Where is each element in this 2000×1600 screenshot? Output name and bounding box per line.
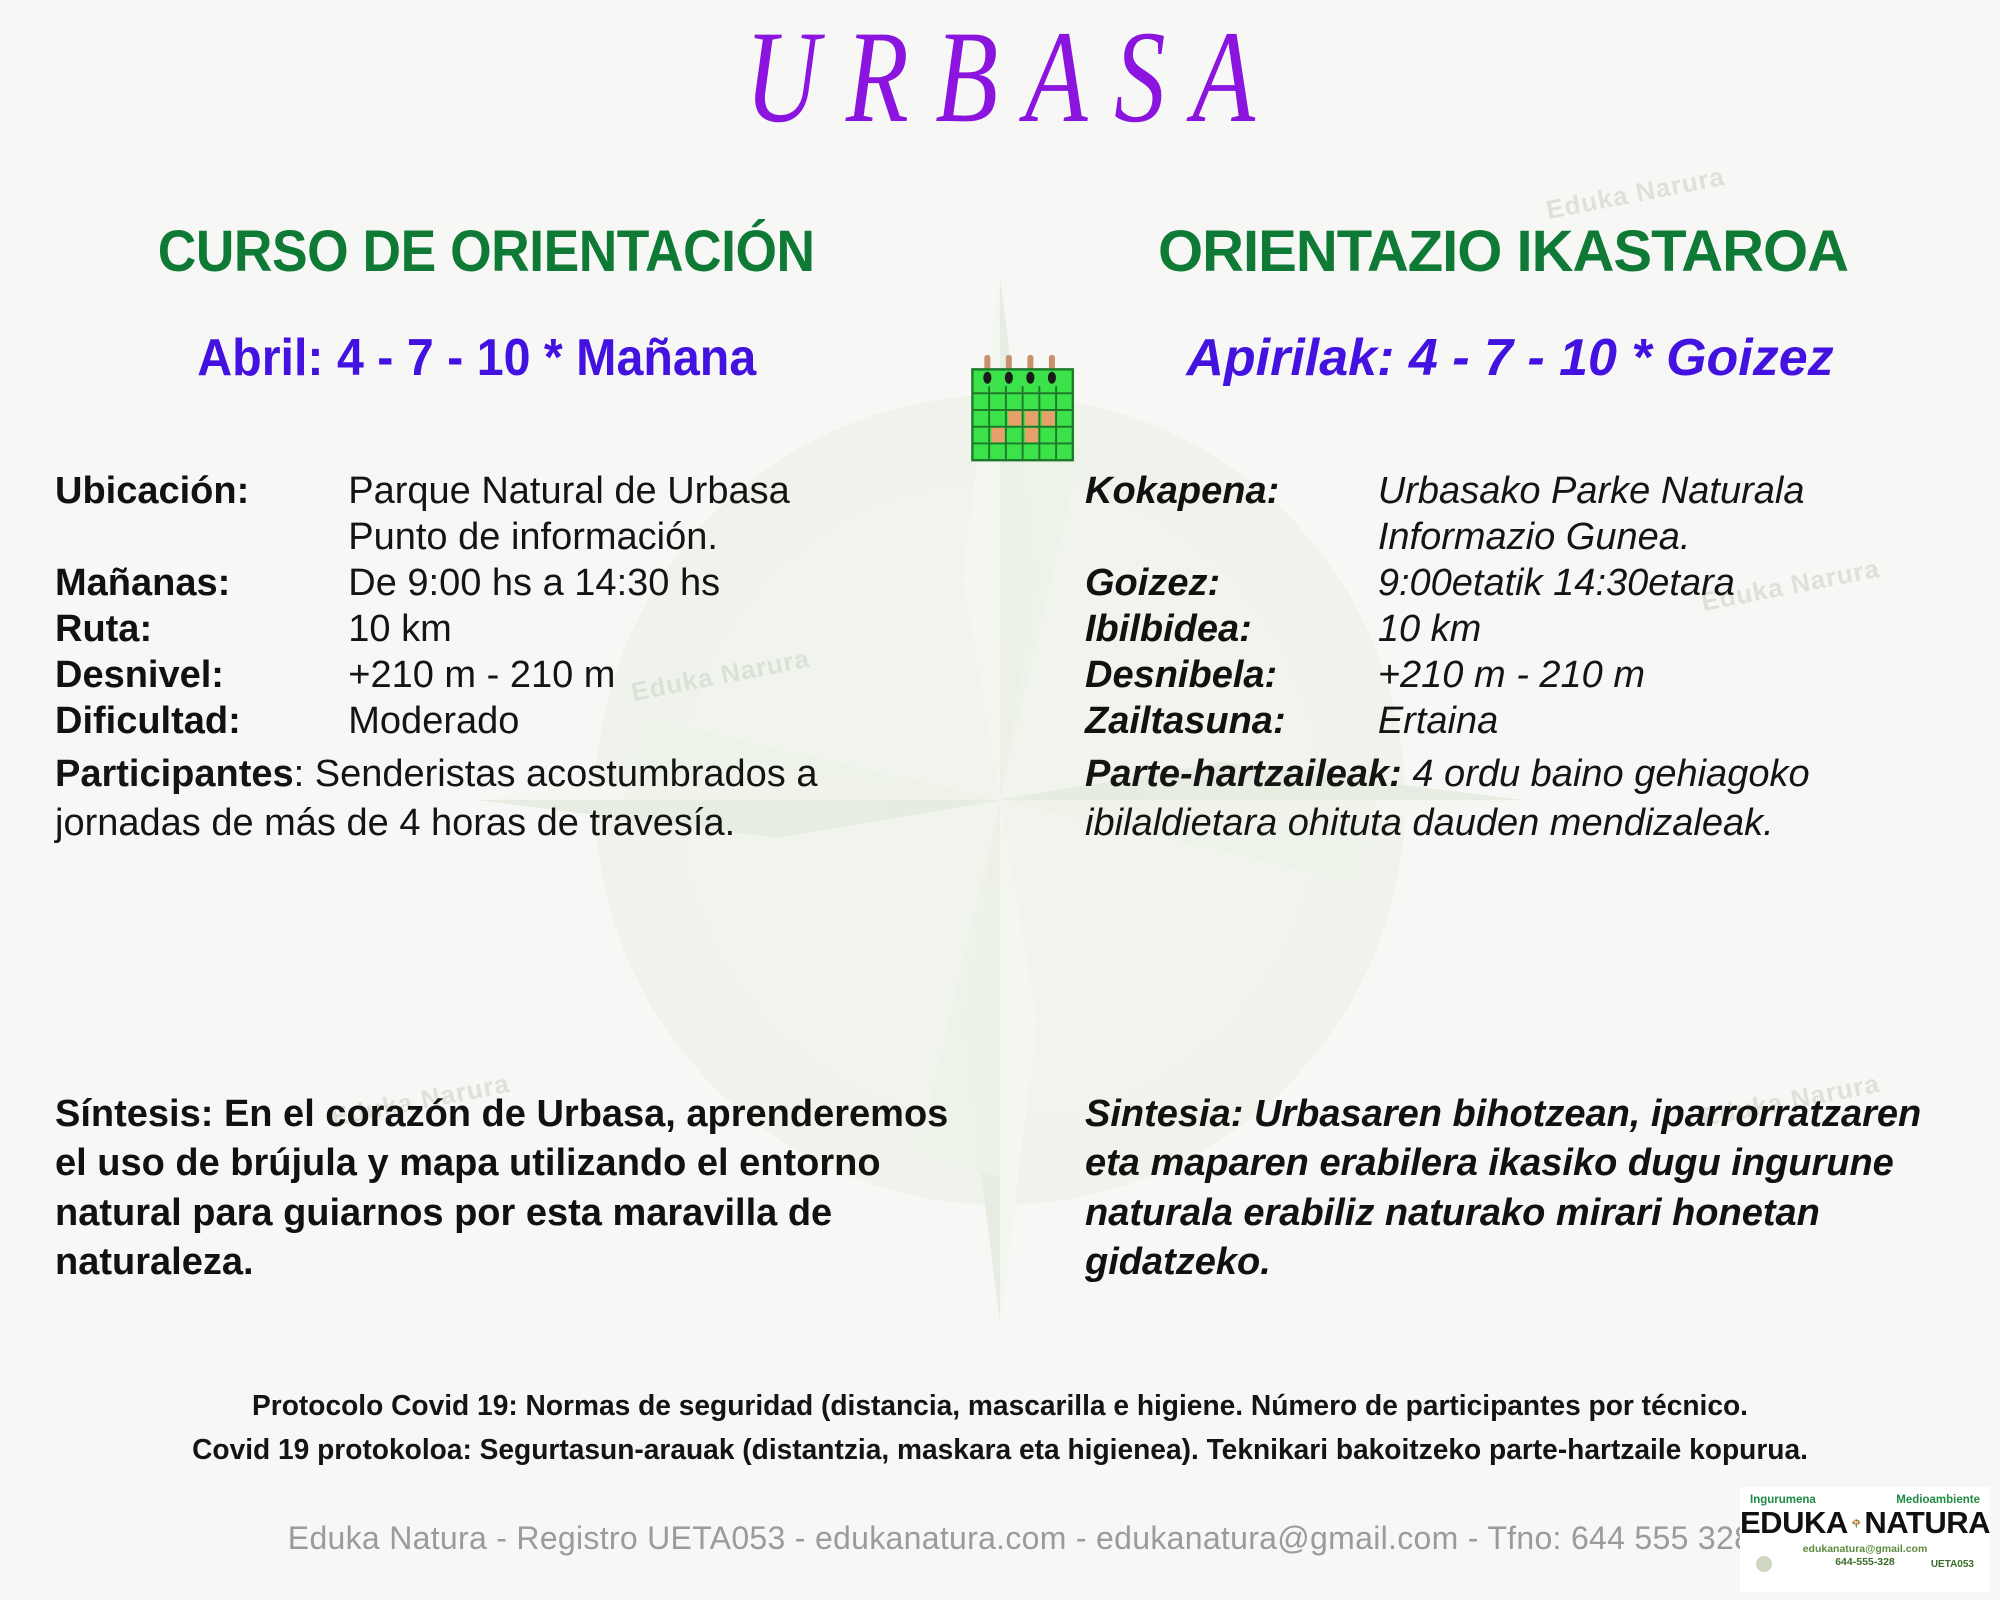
synthesis-col-spanish: Síntesis: En el corazón de Urbasa, apren… — [0, 1090, 1000, 1288]
table-row: Dificultad: Moderado — [55, 700, 970, 746]
row-label: Ubicación: — [55, 470, 348, 516]
heading-basque: ORIENTAZIO IKASTAROA — [1000, 218, 2000, 285]
row-value: Punto de información. — [348, 516, 970, 562]
table-row: Informazio Gunea. — [1085, 516, 1960, 562]
footer-contact-text: Eduka Natura - Registro UETA053 - edukan… — [0, 1520, 2000, 1557]
calendar-icon — [965, 355, 1085, 465]
page-title: URBASA — [220, 8, 1780, 147]
row-label: Kokapena: — [1085, 470, 1378, 516]
logo-badge-icon — [1756, 1556, 1772, 1572]
row-label: Desnibela: — [1085, 654, 1378, 700]
row-value: +210 m - 210 m — [1378, 654, 1960, 700]
heading-spanish: CURSO DE ORIENTACIÓN — [40, 218, 960, 285]
row-label — [55, 516, 348, 562]
table-row: Goizez: 9:00etatik 14:30etara — [1085, 562, 1960, 608]
row-value: Urbasako Parke Naturala — [1378, 470, 1960, 516]
table-row: Desnivel: +210 m - 210 m — [55, 654, 970, 700]
row-value: De 9:00 hs a 14:30 hs — [348, 562, 970, 608]
table-row: Ubicación: Parque Natural de Urbasa — [55, 470, 970, 516]
date-line-spanish: Abril: 4 - 7 - 10 * Mañana — [35, 328, 965, 388]
synthesis-row: Síntesis: En el corazón de Urbasa, apren… — [0, 1090, 2000, 1288]
participants-basque: Parte-hartzaileak: 4 ordu baino gehiagok… — [1085, 750, 1960, 847]
row-value: 9:00etatik 14:30etara — [1378, 562, 1960, 608]
table-row: Punto de información. — [55, 516, 970, 562]
table-row: Kokapena: Urbasako Parke Naturala — [1085, 470, 1960, 516]
info-columns: Ubicación: Parque Natural de Urbasa Punt… — [0, 470, 2000, 847]
info-column-basque: Kokapena: Urbasako Parke Naturala Inform… — [1000, 470, 2000, 847]
synthesis-basque: Sintesia: Urbasaren bihotzean, iparrorra… — [1000, 1090, 2000, 1288]
poster-canvas: Eduka Narura Eduka Narura Eduka Narura E… — [0, 0, 2000, 1600]
row-label — [1085, 516, 1378, 562]
covid-line-basque: Covid 19 protokoloa: Segurtasun-arauak (… — [30, 1429, 1970, 1473]
date-col-basque: Apirilak: 4 - 7 - 10 * Goizez — [1000, 328, 2000, 388]
row-label: Zailtasuna: — [1085, 700, 1378, 746]
participants-spanish: Participantes: Senderistas acostumbrados… — [55, 750, 970, 847]
headings-row: CURSO DE ORIENTACIÓN ORIENTAZIO IKASTARO… — [0, 218, 2000, 285]
row-value: Ertaina — [1378, 700, 1960, 746]
table-row: Zailtasuna: Ertaina — [1085, 700, 1960, 746]
eduka-natura-logo: Ingurumena Medioambiente EDUKA — [1740, 1487, 1990, 1592]
table-row: Ruta: 10 km — [55, 608, 970, 654]
row-label: Dificultad: — [55, 700, 348, 746]
table-row: Ibilbidea: 10 km — [1085, 608, 1960, 654]
logo-email: edukanatura@gmail.com — [1740, 1543, 1990, 1555]
covid-protocol: Protocolo Covid 19: Normas de seguridad … — [30, 1385, 1970, 1472]
row-label: Ibilbidea: — [1085, 608, 1378, 654]
row-value: Moderado — [348, 700, 970, 746]
logo-word-eduka: EDUKA — [1740, 1505, 1848, 1541]
row-value: Informazio Gunea. — [1378, 516, 1960, 562]
participants-label-basque: Parte-hartzaileak: — [1085, 753, 1402, 795]
participants-label-spanish: Participantes — [55, 753, 294, 795]
synthesis-spanish: Síntesis: En el corazón de Urbasa, apren… — [0, 1090, 1000, 1288]
logo-wordmark: EDUKA — [1740, 1504, 1990, 1542]
row-label: Mañanas: — [55, 562, 348, 608]
covid-line-spanish: Protocolo Covid 19: Normas de seguridad … — [30, 1385, 1970, 1429]
row-label: Goizez: — [1085, 562, 1378, 608]
table-row: Desnibela: +210 m - 210 m — [1085, 654, 1960, 700]
heading-col-spanish: CURSO DE ORIENTACIÓN — [0, 218, 1000, 285]
info-table-spanish: Ubicación: Parque Natural de Urbasa Punt… — [55, 470, 970, 746]
synthesis-col-basque: Sintesia: Urbasaren bihotzean, iparrorra… — [1000, 1090, 2000, 1288]
footer: Eduka Natura - Registro UETA053 - edukan… — [0, 1520, 2000, 1557]
row-value: 10 km — [1378, 608, 1960, 654]
table-row: Mañanas: De 9:00 hs a 14:30 hs — [55, 562, 970, 608]
row-value: Parque Natural de Urbasa — [348, 470, 970, 516]
tree-icon — [1851, 1504, 1862, 1542]
logo-word-natura: NATURA — [1864, 1505, 1990, 1541]
row-value: 10 km — [348, 608, 970, 654]
logo-registry: UETA053 — [1931, 1559, 1974, 1570]
date-line-basque: Apirilak: 4 - 7 - 10 * Goizez — [1000, 328, 2000, 388]
info-column-spanish: Ubicación: Parque Natural de Urbasa Punt… — [0, 470, 1000, 847]
row-label: Ruta: — [55, 608, 348, 654]
row-value: +210 m - 210 m — [348, 654, 970, 700]
row-label: Desnivel: — [55, 654, 348, 700]
date-col-spanish: Abril: 4 - 7 - 10 * Mañana — [0, 328, 1000, 388]
info-table-basque: Kokapena: Urbasako Parke Naturala Inform… — [1085, 470, 1960, 746]
heading-col-basque: ORIENTAZIO IKASTAROA — [1000, 218, 2000, 285]
watermark-label: Eduka Narura — [1544, 161, 1728, 226]
